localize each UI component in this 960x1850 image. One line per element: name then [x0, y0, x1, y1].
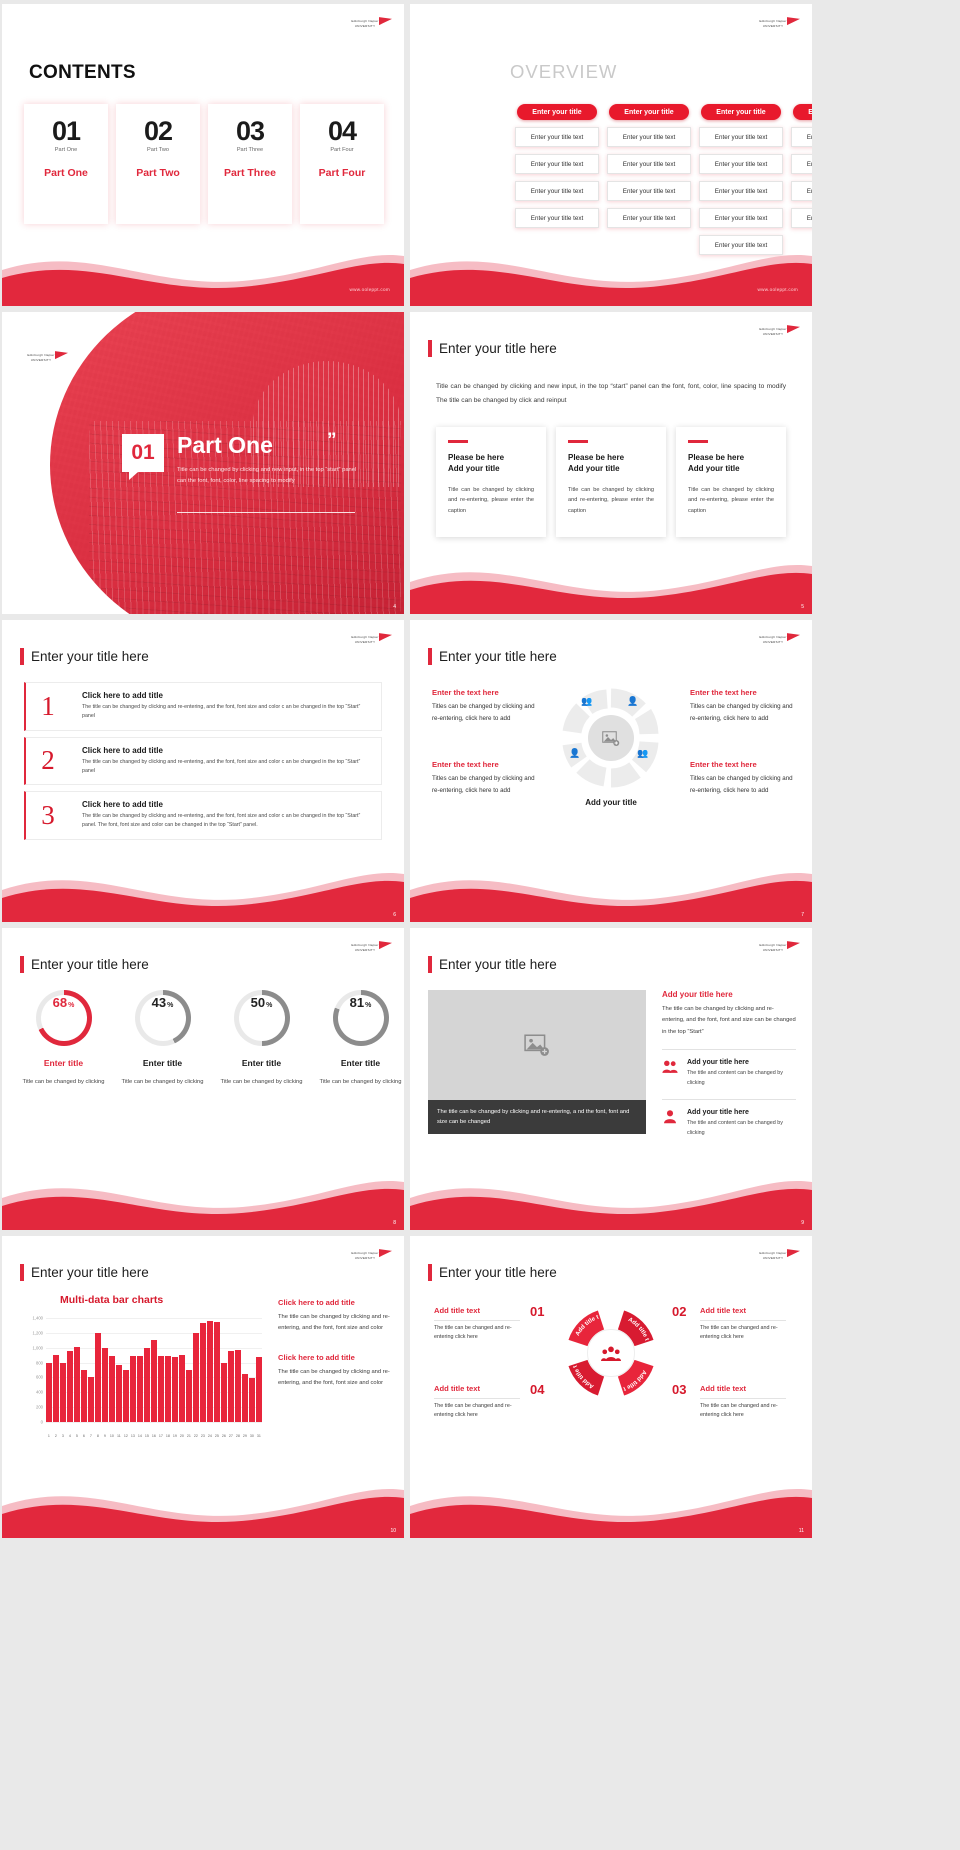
card-subtitle: Part Three: [237, 147, 263, 153]
chart-x-tick: 7: [88, 1434, 94, 1438]
ring-list: 68 % Enter title Title can be changed by…: [16, 990, 404, 1088]
wave-decoration: [2, 240, 404, 306]
chart-y-tick: 800: [20, 1360, 43, 1365]
slide-image-list: Edinburgh NapierUNIVERSITY Enter your ti…: [410, 928, 812, 1230]
section-heading: Part One: [177, 432, 273, 459]
overview-item[interactable]: Enter your title text: [607, 181, 691, 201]
chart-bar: [46, 1363, 52, 1422]
column-pill-button[interactable]: Enter your title: [609, 104, 689, 120]
chart-x-tick: 20: [179, 1434, 185, 1438]
overview-item[interactable]: Enter your title text: [515, 127, 599, 147]
logo: Edinburgh NapierUNIVERSITY: [754, 630, 800, 650]
list-item[interactable]: 2 Click here to add title The title can …: [24, 737, 382, 786]
person-lock-icon: 👤: [627, 696, 638, 707]
chart-bar: [235, 1350, 241, 1422]
overview-column: Enter your title Enter your title text E…: [515, 104, 599, 255]
chart-bar: [207, 1321, 213, 1422]
quadrant-title: Add title text: [700, 1384, 786, 1393]
contents-card[interactable]: 02 Part Two Part Two: [116, 104, 200, 224]
page-title: Enter your title here: [20, 956, 149, 973]
progress-ring: 81 %: [333, 990, 389, 1046]
card-body: Title can be changed by clicking and re-…: [688, 485, 774, 517]
chart-bar: [242, 1374, 248, 1422]
card-title: Please be here Add your title: [568, 452, 654, 475]
side-panel: Click here to add title The title can be…: [278, 1298, 390, 1389]
donut-center-label: Add your title: [540, 798, 682, 807]
ring-unit: %: [266, 1002, 272, 1009]
page-number: 6: [393, 912, 396, 918]
slide-bar-chart: Edinburgh NapierUNIVERSITY Enter your ti…: [2, 1236, 404, 1538]
chart-bar: [53, 1355, 59, 1422]
ring-unit: %: [68, 1002, 74, 1009]
page-title-text: Enter your title here: [31, 957, 149, 972]
overview-item[interactable]: Enter your title text: [791, 127, 812, 147]
card-list: Please be here Add your title Title can …: [436, 427, 786, 537]
page-number: 7: [801, 912, 804, 918]
slide-three-cards: Edinburgh NapierUNIVERSITY Enter your ti…: [410, 312, 812, 614]
person-icon: [662, 1109, 679, 1138]
slide-overview: Edinburgh NapierUNIVERSITY OVERVIEW Ente…: [410, 4, 812, 306]
page-title: Enter your title here: [20, 1264, 149, 1281]
overview-item[interactable]: Enter your title text: [607, 127, 691, 147]
ring-value: 50: [251, 995, 265, 1010]
divider: [700, 1320, 786, 1321]
page-title-text: Enter your title here: [439, 341, 557, 356]
page-title-text: Enter your title here: [31, 1265, 149, 1280]
title-accent-bar: [428, 340, 432, 357]
donut-text-block-2: Enter the text here Titles can be change…: [690, 688, 798, 725]
ring-desc: Title can be changed by clicking: [221, 1077, 303, 1088]
overview-item[interactable]: Enter your title text: [607, 154, 691, 174]
overview-item[interactable]: Enter your title text: [791, 181, 812, 201]
block-heading: Enter the text here: [690, 688, 798, 697]
footer-website: www.ooleppt.com: [349, 287, 390, 292]
card-subtitle: Part One: [55, 147, 77, 153]
chart-x-tick: 14: [137, 1434, 143, 1438]
card-accent-dash: [688, 440, 708, 443]
chart-x-tick: 11: [116, 1434, 122, 1438]
quadrant-block-01: Add title text The title can be changed …: [434, 1306, 520, 1343]
overview-item[interactable]: Enter your title text: [699, 154, 783, 174]
chart-bars: [46, 1318, 262, 1422]
overview-item[interactable]: Enter your title text: [699, 208, 783, 228]
overview-item[interactable]: Enter your title text: [791, 208, 812, 228]
chart-x-axis-labels: 1234567891011121314151617181920212223242…: [46, 1434, 262, 1438]
side-title: Click here to add title: [278, 1298, 390, 1307]
chart-bar: [158, 1356, 164, 1422]
title-accent-bar: [20, 956, 24, 973]
quote-mark-icon: ”: [327, 430, 337, 452]
page-title-text: Enter your title here: [439, 649, 557, 664]
item-title: Click here to add title: [82, 746, 371, 755]
page-number: 8: [393, 1220, 396, 1226]
logo: Edinburgh NapierUNIVERSITY: [22, 348, 68, 368]
chart-bar: [193, 1333, 199, 1422]
chart-x-tick: 23: [200, 1434, 206, 1438]
divider: [700, 1398, 786, 1399]
item-body: The title can be changed by clicking and…: [82, 812, 371, 831]
wave-decoration: [410, 1472, 812, 1538]
side-title: Add your title here: [662, 990, 796, 999]
chart-bar: [116, 1365, 122, 1422]
chart-bar: [81, 1370, 87, 1422]
title-accent-bar: [428, 648, 432, 665]
slide-part-one: Edinburgh NapierUNIVERSITY 01 Part One ”…: [2, 312, 404, 614]
chart-x-tick: 18: [165, 1434, 171, 1438]
chart-gridline: [46, 1422, 262, 1423]
page-title: Enter your title here: [428, 1264, 557, 1281]
chart-y-tick: 200: [20, 1405, 43, 1410]
logo: Edinburgh NapierUNIVERSITY: [754, 1246, 800, 1266]
block-body: Titles can be changed by clicking and re…: [690, 773, 798, 797]
block-heading: Enter the text here: [690, 760, 798, 769]
slide-progress-rings: Edinburgh NapierUNIVERSITY Enter your ti…: [2, 928, 404, 1230]
page-title: Enter your title here: [428, 648, 557, 665]
contents-card[interactable]: 03 Part Three Part Three: [208, 104, 292, 224]
chart-x-tick: 10: [109, 1434, 115, 1438]
chart-bar: [200, 1323, 206, 1422]
chart-x-tick: 1: [46, 1434, 52, 1438]
slide-contents: Edinburgh NapierUNIVERSITY CONTENTS 01 P…: [2, 4, 404, 306]
logo: Edinburgh NapierUNIVERSITY: [346, 938, 392, 958]
quadrant-number-02: 02: [672, 1304, 686, 1319]
divider: [434, 1320, 520, 1321]
ring-value: 68: [53, 995, 67, 1010]
ring-unit: %: [167, 1002, 173, 1009]
chart-x-tick: 27: [228, 1434, 234, 1438]
title-accent-bar: [20, 1264, 24, 1281]
side-body: The title can be changed by clicking and…: [278, 1367, 390, 1390]
team-icon: [601, 1345, 621, 1362]
chart-x-tick: 24: [207, 1434, 213, 1438]
quadrant-title: Add title text: [434, 1384, 520, 1393]
card-number: 03: [236, 118, 264, 145]
chart-y-tick: 1,200: [20, 1330, 43, 1335]
footer-website: www.ooleppt.com: [757, 287, 798, 292]
logo: Edinburgh NapierUNIVERSITY: [346, 1246, 392, 1266]
page-title-text: Enter your title here: [439, 957, 557, 972]
chart-bar: [186, 1370, 192, 1422]
logo: Edinburgh NapierUNIVERSITY: [754, 14, 800, 34]
overview-item[interactable]: Enter your title text: [607, 208, 691, 228]
overview-item[interactable]: Enter your title text: [699, 181, 783, 201]
ring-item[interactable]: 50 % Enter title Title can be changed by…: [214, 990, 309, 1088]
overview-item[interactable]: Enter your title text: [515, 208, 599, 228]
column-pill-button[interactable]: Enter your title: [701, 104, 781, 120]
overview-column: Enter your title Enter your title text E…: [699, 104, 783, 255]
wave-decoration: [410, 856, 812, 922]
page-number: 10: [390, 1528, 396, 1534]
item-number: 2: [26, 747, 70, 774]
ring-desc: Title can be changed by clicking: [320, 1077, 402, 1088]
block-body: Titles can be changed by clicking and re…: [690, 701, 798, 725]
progress-ring: 68 %: [36, 990, 92, 1046]
chart-x-tick: 17: [158, 1434, 164, 1438]
item-body: The title can be changed by clicking and…: [82, 758, 371, 777]
side-title: Click here to add title: [278, 1353, 390, 1362]
wave-decoration: [410, 1164, 812, 1230]
ring-item[interactable]: 81 % Enter title Title can be changed by…: [313, 990, 404, 1088]
group-icon: 👥: [581, 696, 592, 707]
chart-bar: [151, 1340, 157, 1422]
chart-x-tick: 3: [60, 1434, 66, 1438]
quadrant-block-02: Add title text The title can be changed …: [700, 1306, 786, 1343]
ring-title: Enter title: [44, 1058, 83, 1068]
block-body: Titles can be changed by clicking and re…: [432, 773, 540, 797]
donut-text-block-1: Enter the text here Titles can be change…: [432, 688, 540, 725]
donut-text-block-3: Enter the text here Titles can be change…: [432, 760, 540, 797]
chart-x-tick: 12: [123, 1434, 129, 1438]
chart-bar: [67, 1351, 73, 1422]
logo-line2: UNIVERSITY: [355, 24, 376, 28]
page-title-text: Enter your title here: [439, 1265, 557, 1280]
card-subtitle: Part Four: [330, 147, 353, 153]
page-title: CONTENTS: [29, 62, 136, 84]
quadrant-body: The title can be changed and re-entering…: [434, 1324, 520, 1343]
quadrant-title: Add title text: [700, 1306, 786, 1315]
page-number: 4: [393, 604, 396, 610]
contents-card[interactable]: 04 Part Four Part Four: [300, 104, 384, 224]
quadrant-body: The title can be changed and re-entering…: [700, 1324, 786, 1343]
wave-decoration: [2, 856, 404, 922]
contents-card[interactable]: 01 Part One Part One: [24, 104, 108, 224]
item-number: 1: [26, 693, 70, 720]
quadrant-title: Add title text: [434, 1306, 520, 1315]
chart-y-tick: 1,000: [20, 1345, 43, 1350]
column-pill-button[interactable]: Enter your title: [517, 104, 597, 120]
chart-x-tick: 26: [221, 1434, 227, 1438]
chart-bar: [144, 1348, 150, 1422]
chart-x-tick: 5: [74, 1434, 80, 1438]
wave-decoration: [410, 240, 812, 306]
image-placeholder-icon: [602, 731, 620, 746]
chart-bar: [123, 1370, 129, 1422]
overview-item[interactable]: Enter your title text: [791, 154, 812, 174]
lead-paragraph: Title can be changed by clicking and new…: [436, 380, 786, 408]
chart-bar: [102, 1348, 108, 1422]
chart-bar: [109, 1356, 115, 1422]
item-title: Click here to add title: [82, 691, 371, 700]
person-circle-icon: 👤: [569, 748, 580, 759]
center-image-placeholder[interactable]: [588, 715, 634, 761]
quadrant-number-03: 03: [672, 1382, 686, 1397]
logo: Edinburgh NapierUNIVERSITY: [754, 322, 800, 342]
progress-ring: 50 %: [234, 990, 290, 1046]
page-title: Enter your title here: [20, 648, 149, 665]
chart-x-tick: 31: [256, 1434, 262, 1438]
ring-desc: Title can be changed by clicking: [122, 1077, 204, 1088]
divider: [434, 1398, 520, 1399]
card-accent-dash: [568, 440, 588, 443]
card-part-label: Part One: [44, 167, 88, 179]
slide-numbered-list: Edinburgh NapierUNIVERSITY Enter your ti…: [2, 620, 404, 922]
block-heading: Enter the text here: [432, 760, 540, 769]
chart-bar: [172, 1357, 178, 1422]
card-part-label: Part Two: [136, 167, 180, 179]
page-title: Enter your title here: [428, 340, 557, 357]
ring-unit: %: [365, 1002, 371, 1009]
info-card[interactable]: Please be here Add your title Title can …: [556, 427, 666, 537]
ring-value: 43: [152, 995, 166, 1010]
chart-x-tick: 8: [95, 1434, 101, 1438]
ring-value: 81: [350, 995, 364, 1010]
chart-bar: [214, 1322, 220, 1422]
ring-desc: Title can be changed by clicking: [23, 1077, 105, 1088]
chart-bar: [221, 1363, 227, 1422]
chart-y-tick: 400: [20, 1390, 43, 1395]
quadrant-body: The title can be changed and re-entering…: [434, 1402, 520, 1421]
page-number: 11: [799, 1528, 804, 1534]
bar-chart: 02004006008001,0001,2001,400 12345678910…: [20, 1314, 264, 1440]
ring-title: Enter title: [341, 1058, 380, 1068]
chart-bar: [60, 1363, 66, 1422]
side-body: The title can be changed by clicking and…: [278, 1312, 390, 1335]
side-list-title: Add your title here: [687, 1059, 796, 1066]
wave-decoration: [2, 1164, 404, 1230]
cycle-hub: [587, 1329, 635, 1377]
page-title: OVERVIEW: [510, 61, 617, 83]
card-body: Title can be changed by clicking and re-…: [448, 485, 534, 517]
progress-ring: 43 %: [135, 990, 191, 1046]
image-placeholder-icon: [524, 1034, 550, 1056]
side-list-body: The title and content can be changed by …: [687, 1069, 796, 1088]
info-card[interactable]: Please be here Add your title Title can …: [676, 427, 786, 537]
chart-x-tick: 21: [186, 1434, 192, 1438]
side-list-body: The title and content can be changed by …: [687, 1119, 796, 1138]
item-body: The title can be changed by clicking and…: [82, 703, 371, 722]
overview-item[interactable]: Enter your title text: [699, 127, 783, 147]
overview-column: Enter your title Enter your title text E…: [791, 104, 812, 255]
title-accent-bar: [428, 956, 432, 973]
ring-item[interactable]: 68 % Enter title Title can be changed by…: [16, 990, 111, 1088]
chart-x-tick: 2: [53, 1434, 59, 1438]
chart-bar: [95, 1333, 101, 1422]
logo: Edinburgh NapierUNIVERSITY: [346, 14, 392, 34]
chart-y-tick: 600: [20, 1375, 43, 1380]
slide-grid: Edinburgh NapierUNIVERSITY CONTENTS 01 P…: [0, 0, 960, 1538]
side-list-title: Add your title here: [687, 1109, 796, 1116]
info-card[interactable]: Please be here Add your title Title can …: [436, 427, 546, 537]
card-number: 04: [328, 118, 356, 145]
overview-columns: Enter your title Enter your title text E…: [515, 104, 812, 255]
chart-bar: [249, 1378, 255, 1422]
chart-x-tick: 22: [193, 1434, 199, 1438]
chart-y-tick: 0: [20, 1420, 43, 1425]
chart-title: Multi-data bar charts: [60, 1294, 163, 1306]
donut-text-block-4: Enter the text here Titles can be change…: [690, 760, 798, 797]
chart-y-tick: 1,400: [20, 1316, 43, 1321]
chart-bar: [137, 1356, 143, 1422]
chart-bar: [130, 1356, 136, 1422]
chart-bar: [228, 1351, 234, 1422]
ring-item[interactable]: 43 % Enter title Title can be changed by…: [115, 990, 210, 1088]
quadrant-number-04: 04: [530, 1382, 544, 1397]
side-list-item[interactable]: Add your title here The title and conten…: [662, 1049, 796, 1088]
donut-diagram: 👥 👤 👤 👥: [561, 688, 661, 788]
chart-plot-area: [46, 1318, 262, 1422]
ring-title: Enter title: [143, 1058, 182, 1068]
image-placeholder[interactable]: [428, 990, 646, 1100]
section-number-badge: 01: [122, 434, 164, 472]
chart-x-tick: 19: [172, 1434, 178, 1438]
list: 1 Click here to add title The title can …: [24, 682, 382, 846]
logo: Edinburgh NapierUNIVERSITY: [754, 938, 800, 958]
chart-x-tick: 13: [130, 1434, 136, 1438]
page-number: 9: [801, 1220, 804, 1226]
section-photo: [50, 312, 404, 614]
list-item[interactable]: 3 Click here to add title The title can …: [24, 791, 382, 840]
list-item[interactable]: 1 Click here to add title The title can …: [24, 682, 382, 731]
logo: Edinburgh NapierUNIVERSITY: [346, 630, 392, 650]
overview-item[interactable]: Enter your title text: [515, 181, 599, 201]
overview-item[interactable]: Enter your title text: [515, 154, 599, 174]
card-title: Please be here Add your title: [688, 452, 774, 475]
wave-decoration: [2, 1472, 404, 1538]
quadrant-body: The title can be changed and re-entering…: [700, 1402, 786, 1421]
page-number: 5: [801, 604, 804, 610]
slide-cycle-diagram: Edinburgh NapierUNIVERSITY Enter your ti…: [410, 1236, 812, 1538]
column-pill-button[interactable]: Enter your title: [793, 104, 812, 120]
block-body: Titles can be changed by clicking and re…: [432, 701, 540, 725]
side-body: The title can be changed by clicking and…: [662, 1004, 796, 1038]
image-caption: The title can be changed by clicking and…: [428, 1100, 646, 1134]
chart-x-tick: 25: [214, 1434, 220, 1438]
people-icon: [662, 1059, 679, 1088]
contents-card-list: 01 Part One Part One 02 Part Two Part Tw…: [24, 104, 384, 224]
divider: [177, 512, 355, 513]
chart-bar: [74, 1347, 80, 1422]
overview-column: Enter your title Enter your title text E…: [607, 104, 691, 255]
quadrant-block-04: Add title text The title can be changed …: [434, 1384, 520, 1421]
chart-x-tick: 29: [242, 1434, 248, 1438]
ring-title: Enter title: [242, 1058, 281, 1068]
title-accent-bar: [428, 1264, 432, 1281]
quadrant-block-03: Add title text The title can be changed …: [700, 1384, 786, 1421]
chart-bar: [256, 1357, 262, 1422]
card-body: Title can be changed by clicking and re-…: [568, 485, 654, 517]
side-panel: Add your title here The title can be cha…: [662, 990, 796, 1139]
page-title: Enter your title here: [428, 956, 557, 973]
quadrant-number-01: 01: [530, 1304, 544, 1319]
chart-x-tick: 16: [151, 1434, 157, 1438]
cycle-diagram: Add title text Add title text Add title …: [556, 1298, 666, 1408]
section-body: Title can be changed by clicking and new…: [177, 465, 362, 486]
block-heading: Enter the text here: [432, 688, 540, 697]
card-number: 01: [52, 118, 80, 145]
page-title-text: Enter your title here: [31, 649, 149, 664]
card-title: Please be here Add your title: [448, 452, 534, 475]
item-number: 3: [26, 802, 70, 829]
chart-x-tick: 15: [144, 1434, 150, 1438]
logo-line1: Edinburgh Napier: [351, 19, 378, 23]
slide-donut-diagram: Edinburgh NapierUNIVERSITY Enter your ti…: [410, 620, 812, 922]
item-title: Click here to add title: [82, 800, 371, 809]
chart-x-tick: 28: [235, 1434, 241, 1438]
card-accent-dash: [448, 440, 468, 443]
side-list-item[interactable]: Add your title here The title and conten…: [662, 1099, 796, 1138]
chart-x-tick: 6: [81, 1434, 87, 1438]
title-accent-bar: [20, 648, 24, 665]
chart-bar: [179, 1355, 185, 1422]
chart-bar: [165, 1356, 171, 1422]
card-subtitle: Part Two: [147, 147, 169, 153]
wave-decoration: [410, 548, 812, 614]
card-part-label: Part Three: [224, 167, 276, 179]
chart-x-tick: 4: [67, 1434, 73, 1438]
card-part-label: Part Four: [319, 167, 366, 179]
person-group-icon: 👥: [637, 748, 648, 759]
chart-bar: [88, 1377, 94, 1422]
